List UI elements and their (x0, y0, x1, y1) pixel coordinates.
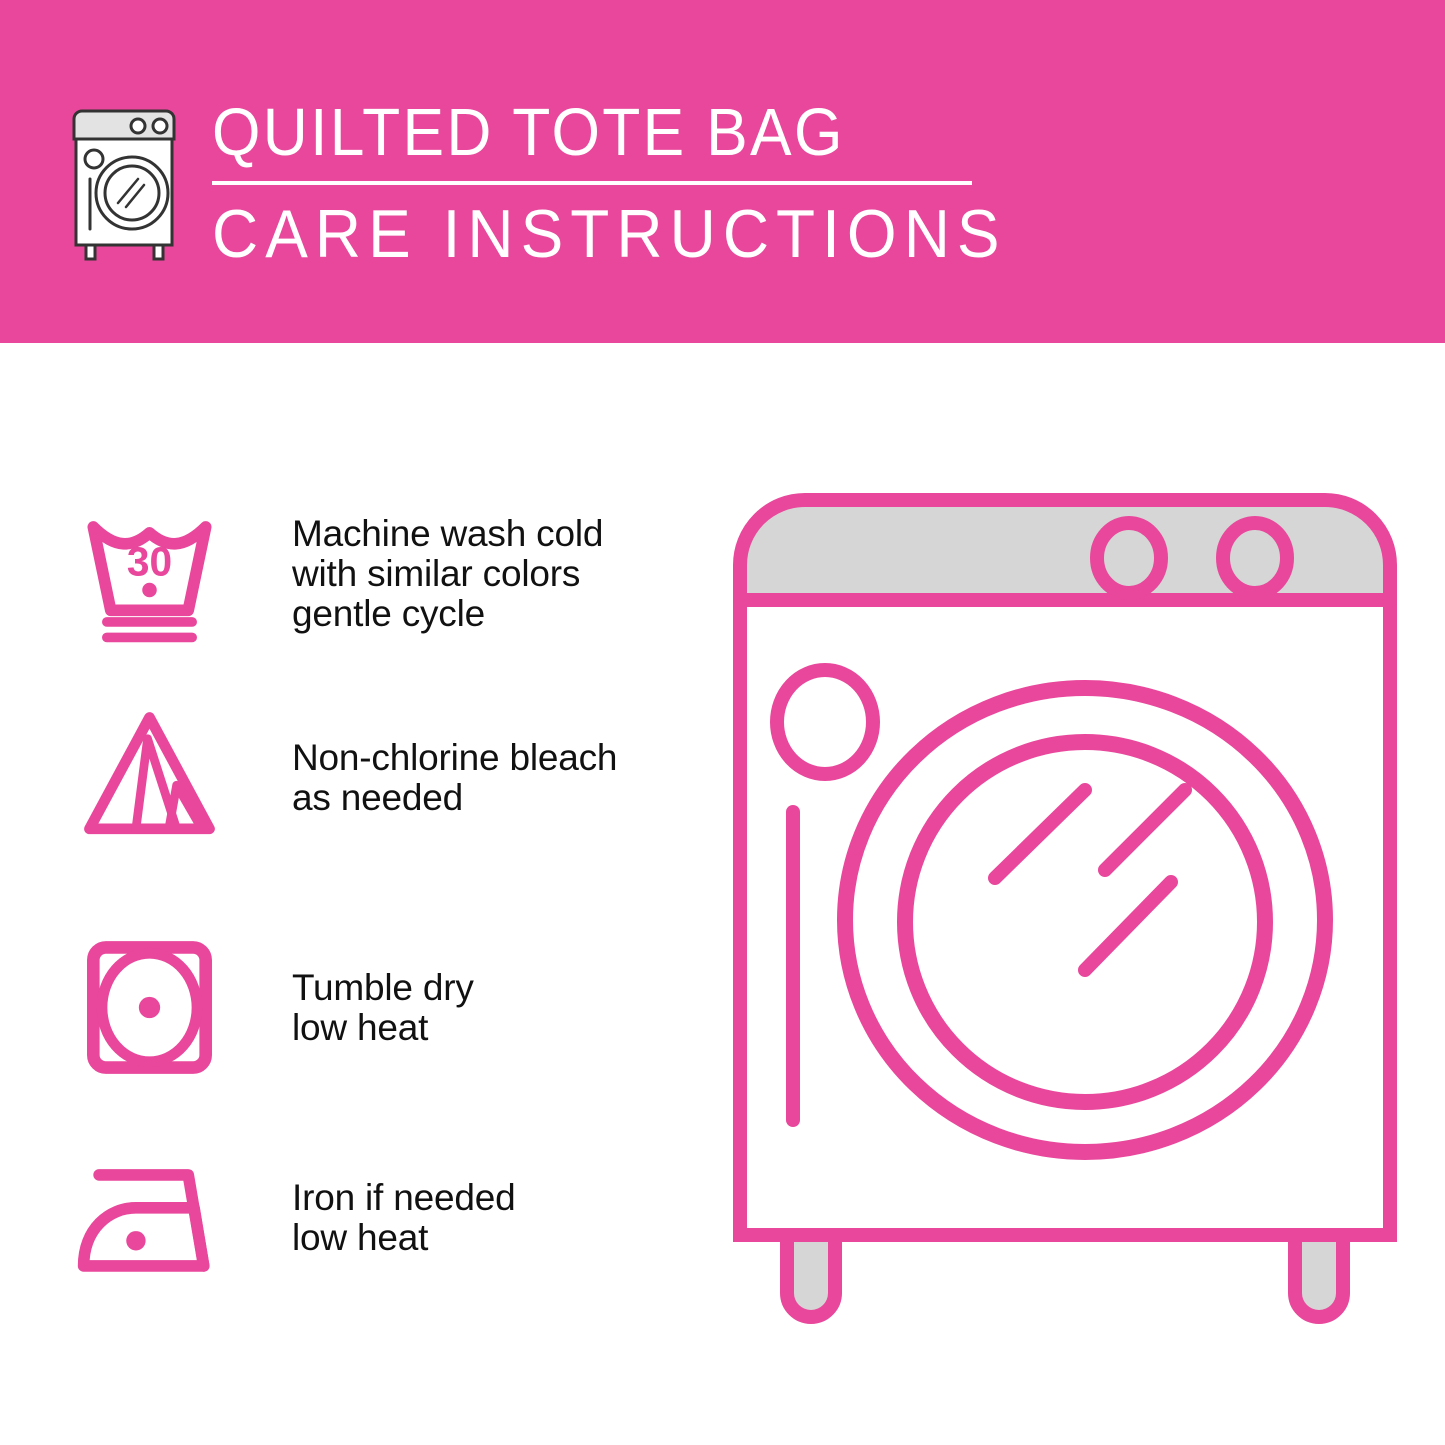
care-item-label: Tumble dry low heat (292, 968, 474, 1048)
care-symbol-list: 30 Machine wash cold with similar colors… (0, 0, 700, 1445)
care-item-bleach: Non-chlorine bleach as needed (72, 700, 617, 855)
iron-icon (72, 1140, 227, 1295)
care-item-tumble-dry: Tumble dry low heat (72, 930, 474, 1085)
care-item-label: Non-chlorine bleach as needed (292, 738, 617, 818)
care-item-label: Iron if needed low heat (292, 1178, 515, 1258)
care-instructions-poster: QUILTED TOTE BAG CARE INSTRUCTIONS 30 (0, 0, 1445, 1445)
wash-tub-30-icon: 30 (72, 496, 227, 651)
tumble-dry-icon (72, 930, 227, 1085)
svg-text:30: 30 (127, 538, 172, 584)
bleach-triangle-icon (72, 700, 227, 855)
care-item-iron: Iron if needed low heat (72, 1140, 515, 1295)
care-item-machine-wash: 30 Machine wash cold with similar colors… (72, 496, 603, 651)
care-item-label: Machine wash cold with similar colors ge… (292, 514, 603, 634)
front-load-washing-machine-illustration (715, 470, 1415, 1370)
